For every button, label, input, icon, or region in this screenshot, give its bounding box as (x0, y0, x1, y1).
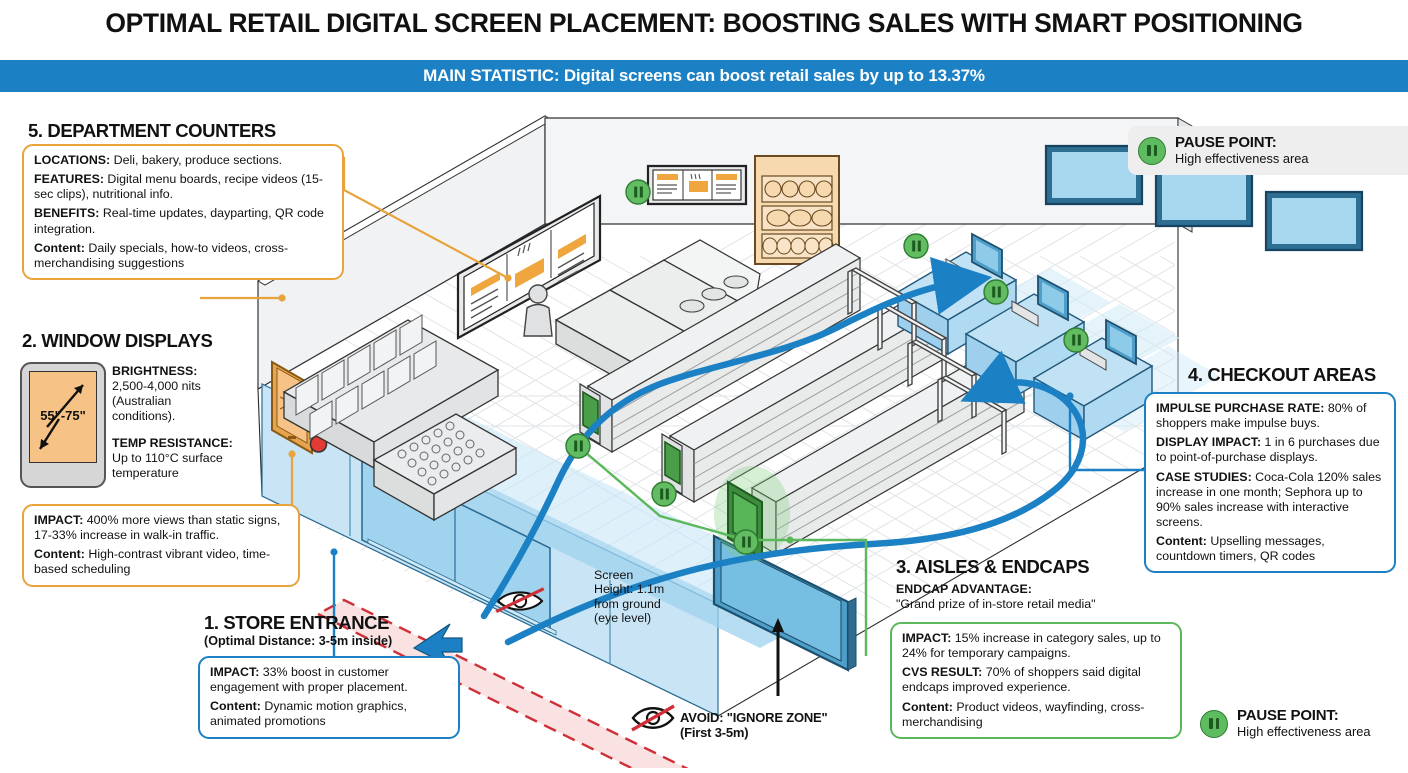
section-heading-window-displays: 2. WINDOW DISPLAYS (22, 330, 213, 352)
callout-checkout-areas: IMPULSE PURCHASE RATE: 80% of shoppers m… (1144, 392, 1396, 573)
dept-line-0: LOCATIONS: Deli, bakery, produce section… (34, 153, 332, 168)
section-heading-department-counters: 5. DEPARTMENT COUNTERS (28, 120, 276, 142)
screen-size-phone-mock: 55"-75" (20, 362, 106, 488)
section-heading-store-entrance: 1. STORE ENTRANCE (204, 612, 389, 634)
screen-height-line-4: (eye level) (594, 611, 651, 625)
pause-point-legend-top: PAUSE POINT: High effectiveness area (1128, 126, 1408, 175)
pause-legend-title: PAUSE POINT: (1175, 135, 1309, 152)
pause-legend-subtitle: High effectiveness area (1237, 725, 1371, 740)
checkout-line-0: IMPULSE PURCHASE RATE: 80% of shoppers m… (1156, 401, 1384, 431)
store-entrance-subheading: (Optimal Distance: 3-5m inside) (204, 634, 392, 649)
checkout-line-1: DISPLAY IMPACT: 1 in 6 purchases due to … (1156, 435, 1384, 465)
checkout-line-2: CASE STUDIES: Coca-Cola 120% sales incre… (1156, 470, 1384, 531)
screen-height-line-1: Screen (594, 568, 633, 582)
callout-department-counters: LOCATIONS: Deli, bakery, produce section… (22, 144, 344, 280)
window-temp-spec: TEMP RESISTANCE: Up to 110°C surface tem… (112, 436, 252, 481)
callout-window-displays: IMPACT: 400% more views than static sign… (22, 504, 300, 587)
screen-size-label: 55"-75" (22, 408, 104, 423)
main-statistic-bar: MAIN STATISTIC: Digital screens can boos… (0, 60, 1408, 92)
pause-icon (1138, 137, 1166, 165)
entrance-line-1: Content: Dynamic motion graphics, animat… (210, 699, 448, 729)
aisles-line-1: CVS RESULT: 70% of shoppers said digital… (902, 665, 1170, 695)
aisles-line-0: IMPACT: 15% increase in category sales, … (902, 631, 1170, 661)
window-line-1: Content: High-contrast vibrant video, ti… (34, 547, 288, 577)
avoid-title: AVOID: "IGNORE ZONE" (680, 710, 827, 725)
avoid-subtitle: (First 3-5m) (680, 725, 748, 740)
pause-legend-title: PAUSE POINT: (1237, 708, 1371, 725)
entrance-line-0: IMPACT: 33% boost in customer engagement… (210, 665, 448, 695)
endcap-advantage: ENDCAP ADVANTAGE: "Grand prize of in-sto… (896, 582, 1176, 612)
dept-line-1: FEATURES: Digital menu boards, recipe vi… (34, 172, 332, 202)
main-statistic-text: MAIN STATISTIC: Digital screens can boos… (423, 66, 985, 86)
aisles-line-2: Content: Product videos, wayfinding, cro… (902, 700, 1170, 730)
window-line-0: IMPACT: 400% more views than static sign… (34, 513, 288, 543)
dept-line-3: Content: Daily specials, how-to videos, … (34, 241, 332, 271)
crossed-eye-icon (630, 700, 676, 734)
pause-icon (1200, 710, 1228, 738)
section-heading-checkout-areas: 4. CHECKOUT AREAS (1188, 364, 1376, 386)
screen-height-annotation: Screen Height: 1.1m from ground (eye lev… (594, 568, 684, 626)
pause-point-legend-bottom: PAUSE POINT: High effectiveness area (1200, 708, 1371, 739)
section-heading-aisles-endcaps: 3. AISLES & ENDCAPS (896, 556, 1089, 578)
page-title: OPTIMAL RETAIL DIGITAL SCREEN PLACEMENT:… (0, 8, 1408, 39)
screen-height-line-2: Height: 1.1m (594, 582, 664, 596)
screen-height-line-3: from ground (594, 597, 661, 611)
callout-store-entrance: IMPACT: 33% boost in customer engagement… (198, 656, 460, 739)
avoid-ignore-zone-label: AVOID: "IGNORE ZONE" (First 3-5m) (680, 710, 827, 741)
dept-line-2: BENEFITS: Real-time updates, dayparting,… (34, 206, 332, 236)
pause-legend-subtitle: High effectiveness area (1175, 152, 1309, 167)
window-brightness-spec: BRIGHTNESS: 2,500-4,000 nits (Australian… (112, 364, 230, 424)
callout-aisles-endcaps: IMPACT: 15% increase in category sales, … (890, 622, 1182, 739)
checkout-line-3: Content: Upselling messages, countdown t… (1156, 534, 1384, 564)
